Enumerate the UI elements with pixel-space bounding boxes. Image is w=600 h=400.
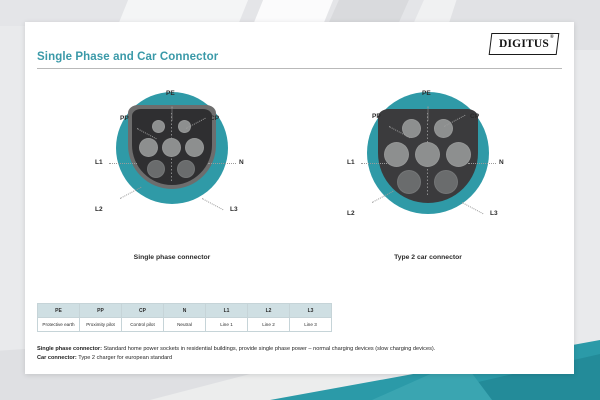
table-header-cell: N xyxy=(164,304,206,318)
label-pp: PP xyxy=(120,115,129,122)
label-n: N xyxy=(499,159,504,166)
label-l3: L3 xyxy=(490,210,498,217)
label-l2: L2 xyxy=(95,206,103,213)
caption-type2-car: Type 2 car connector xyxy=(303,254,553,261)
leader-pe xyxy=(172,107,173,121)
pin-l3 xyxy=(434,170,458,194)
footnote-label: Car connector: xyxy=(37,355,77,361)
table-cell: Line 3 xyxy=(290,318,332,332)
logo-wordmark: DIGITUS® xyxy=(499,38,549,50)
label-cp: CP xyxy=(470,113,479,120)
slide-canvas: DIGITUS® Single Phase and Car Connector xyxy=(0,0,600,400)
caption-single-phase: Single phase connector xyxy=(47,254,297,261)
pin-n xyxy=(185,138,204,157)
footnote-label: Single phase connector: xyxy=(37,346,102,352)
leader-n xyxy=(208,163,236,164)
pin-pp xyxy=(152,120,165,133)
connector-dark-body xyxy=(378,109,478,203)
table-cell: Control pilot xyxy=(122,318,164,332)
table-cell: Neutral xyxy=(164,318,206,332)
table-cell: Proximity pilot xyxy=(80,318,122,332)
title-divider xyxy=(37,68,562,69)
pin-l2 xyxy=(397,170,421,194)
label-pp: PP xyxy=(372,113,381,120)
label-n: N xyxy=(239,159,244,166)
pin-l3 xyxy=(177,160,195,178)
table-row: Protective earth Proximity pilot Control… xyxy=(38,318,332,332)
table-header-cell: PE xyxy=(38,304,80,318)
table-header-cell: CP xyxy=(122,304,164,318)
diagram-type2-car-connector: PE PP CP L1 N L2 L3 Type 2 car connector xyxy=(303,84,553,279)
page-title: Single Phase and Car Connector xyxy=(37,51,218,63)
pin-l2 xyxy=(147,160,165,178)
footnote-single-phase: Single phase connector: Standard home po… xyxy=(37,345,562,354)
label-cp: CP xyxy=(210,115,219,122)
leader-n xyxy=(468,163,496,164)
registered-trademark-icon: ® xyxy=(550,35,554,40)
leader-pe xyxy=(428,107,429,121)
leader-l1 xyxy=(361,163,389,164)
label-pe: PE xyxy=(422,90,431,97)
label-l1: L1 xyxy=(95,159,103,166)
label-pe: PE xyxy=(166,90,175,97)
label-l2: L2 xyxy=(347,210,355,217)
table-header-row: PE PP CP N L1 L2 L3 xyxy=(38,304,332,318)
label-l1: L1 xyxy=(347,159,355,166)
pin-legend-table: PE PP CP N L1 L2 L3 Protective earth Pro… xyxy=(37,303,332,332)
table-header-cell: L3 xyxy=(290,304,332,318)
table-cell: Line 1 xyxy=(206,318,248,332)
pin-l1 xyxy=(139,138,158,157)
leader-l1 xyxy=(109,163,137,164)
label-l3: L3 xyxy=(230,206,238,213)
footnote-text: Type 2 charger for european standard xyxy=(77,355,172,361)
pin-pe xyxy=(162,138,181,157)
footnote-car-connector: Car connector: Type 2 charger for europe… xyxy=(37,354,562,363)
footnote-text: Standard home power sockets in residenti… xyxy=(102,346,435,352)
table-header-cell: L2 xyxy=(248,304,290,318)
digitus-logo: DIGITUS® xyxy=(489,33,560,55)
table-header-cell: L1 xyxy=(206,304,248,318)
table-cell: Line 2 xyxy=(248,318,290,332)
diagram-single-phase-connector: PE PP CP L1 N L2 L3 Single phase connect… xyxy=(47,84,297,279)
footnotes: Single phase connector: Standard home po… xyxy=(37,345,562,363)
table-header-cell: PP xyxy=(80,304,122,318)
table-cell: Protective earth xyxy=(38,318,80,332)
slide-paper: DIGITUS® Single Phase and Car Connector xyxy=(25,22,574,374)
pin-pe xyxy=(415,142,440,167)
